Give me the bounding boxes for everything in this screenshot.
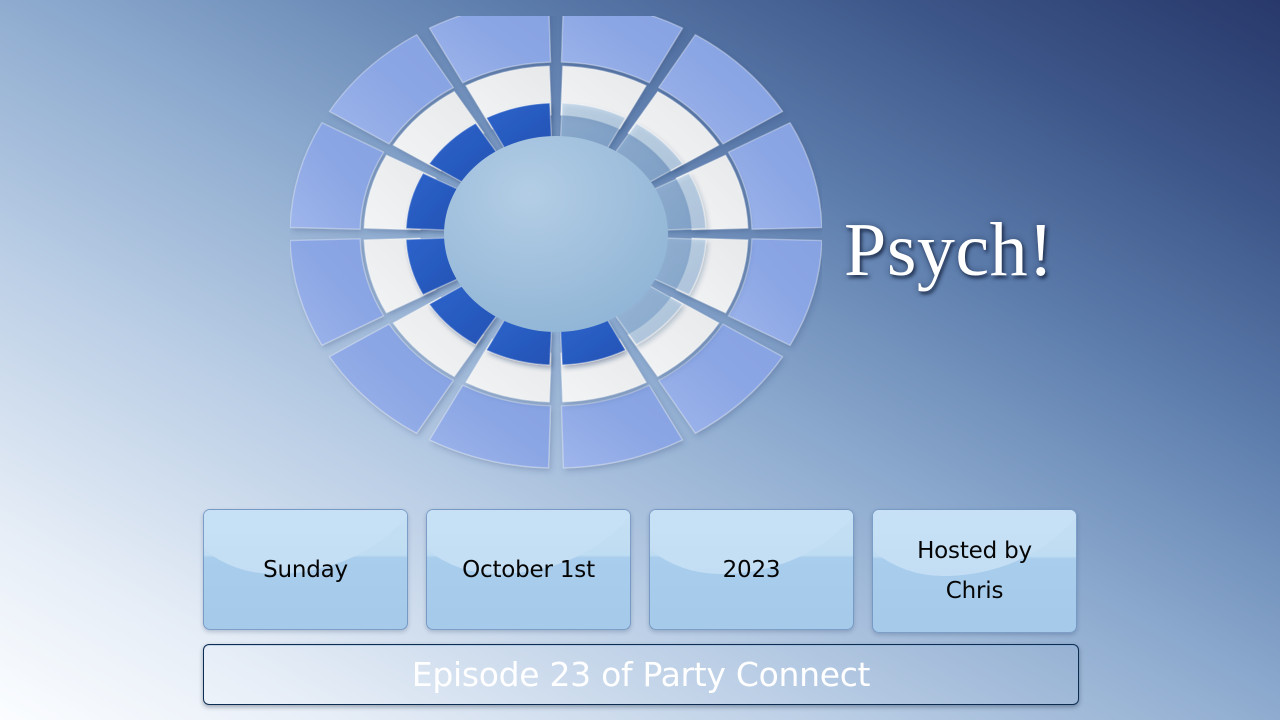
info-box-date-line-1: October 1st <box>462 550 595 590</box>
info-box-host[interactable]: Hosted by Chris <box>872 509 1077 633</box>
info-box-host-line-1: Hosted by <box>917 531 1032 571</box>
logo-hub <box>444 136 668 332</box>
info-box-date[interactable]: October 1st <box>426 509 631 630</box>
page-title: Psych! <box>836 196 1062 304</box>
info-box-host-line-2: Chris <box>946 571 1003 611</box>
psych-wheel-logo <box>290 16 822 488</box>
info-box-year-line-1: 2023 <box>723 550 781 590</box>
info-box-day[interactable]: Sunday <box>203 509 408 630</box>
info-box-row: Sunday October 1st 2023 Hosted by Chris <box>203 509 1077 631</box>
psych-wheel-svg <box>290 16 822 488</box>
info-box-year[interactable]: 2023 <box>649 509 854 630</box>
slide-root: Psych! Sunday October 1st 2023 Hosted by… <box>0 0 1280 720</box>
episode-banner-label: Episode 23 of Party Connect <box>412 658 870 691</box>
info-box-day-line-1: Sunday <box>263 550 348 590</box>
episode-banner[interactable]: Episode 23 of Party Connect <box>203 644 1079 705</box>
